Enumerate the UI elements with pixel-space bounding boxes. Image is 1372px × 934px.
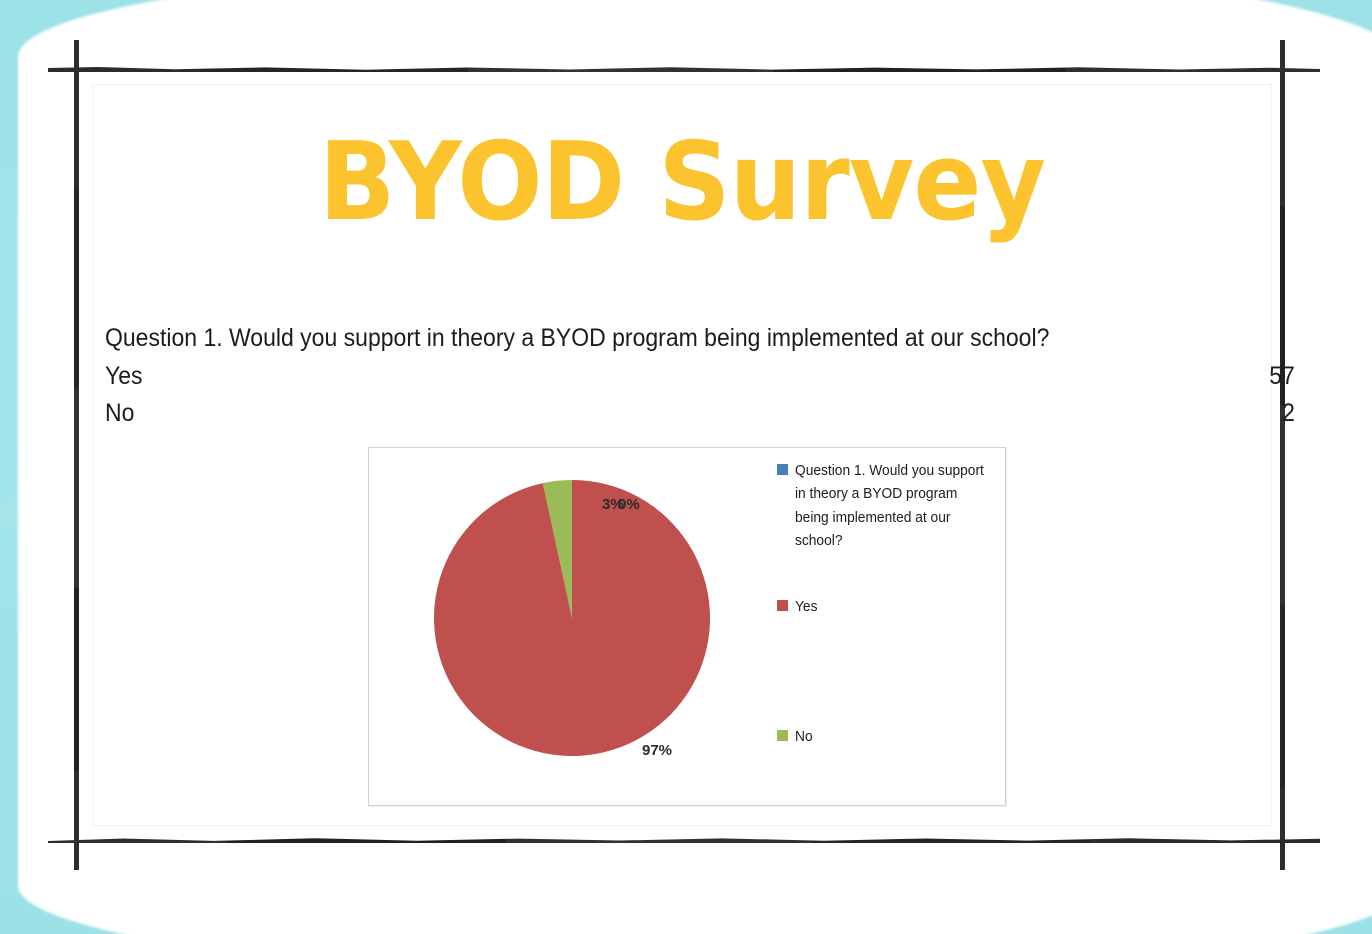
legend-label-question: Question 1. Would you support in theory …: [795, 460, 985, 554]
pie-data-label-yes: 97%: [642, 742, 672, 759]
answer-row-no: No 2: [105, 399, 1295, 428]
pie-data-label-zero: 0%: [618, 496, 640, 513]
pie-chart-object[interactable]: 3% 0% 97% Question 1. Would you support …: [368, 447, 1006, 806]
chart-legend: Question 1. Would you support in theory …: [777, 454, 1001, 800]
answer-label-no: No: [105, 399, 134, 428]
answer-value-yes: 57: [1269, 362, 1295, 391]
legend-swatch-icon: [777, 464, 788, 475]
legend-label-yes: Yes: [795, 596, 817, 619]
slide: BYOD Survey Question 1. Would you suppor…: [0, 0, 1372, 934]
pie-svg: [434, 480, 710, 756]
pie-slice-yes: [434, 480, 710, 756]
legend-entry-no[interactable]: No: [777, 726, 814, 749]
pie-plot-area: 3% 0% 97%: [434, 480, 710, 756]
question-text: Question 1. Would you support in theory …: [105, 324, 1145, 353]
legend-swatch-icon: [777, 600, 788, 611]
legend-label-no: No: [795, 726, 813, 749]
page-title: BYOD Survey: [133, 129, 1230, 237]
legend-entry-yes[interactable]: Yes: [777, 596, 819, 619]
answer-row-yes: Yes 57: [105, 362, 1295, 391]
answer-label-yes: Yes: [105, 362, 143, 391]
legend-swatch-icon: [777, 730, 788, 741]
answer-value-no: 2: [1282, 399, 1295, 428]
legend-entry-question[interactable]: Question 1. Would you support in theory …: [777, 460, 995, 554]
